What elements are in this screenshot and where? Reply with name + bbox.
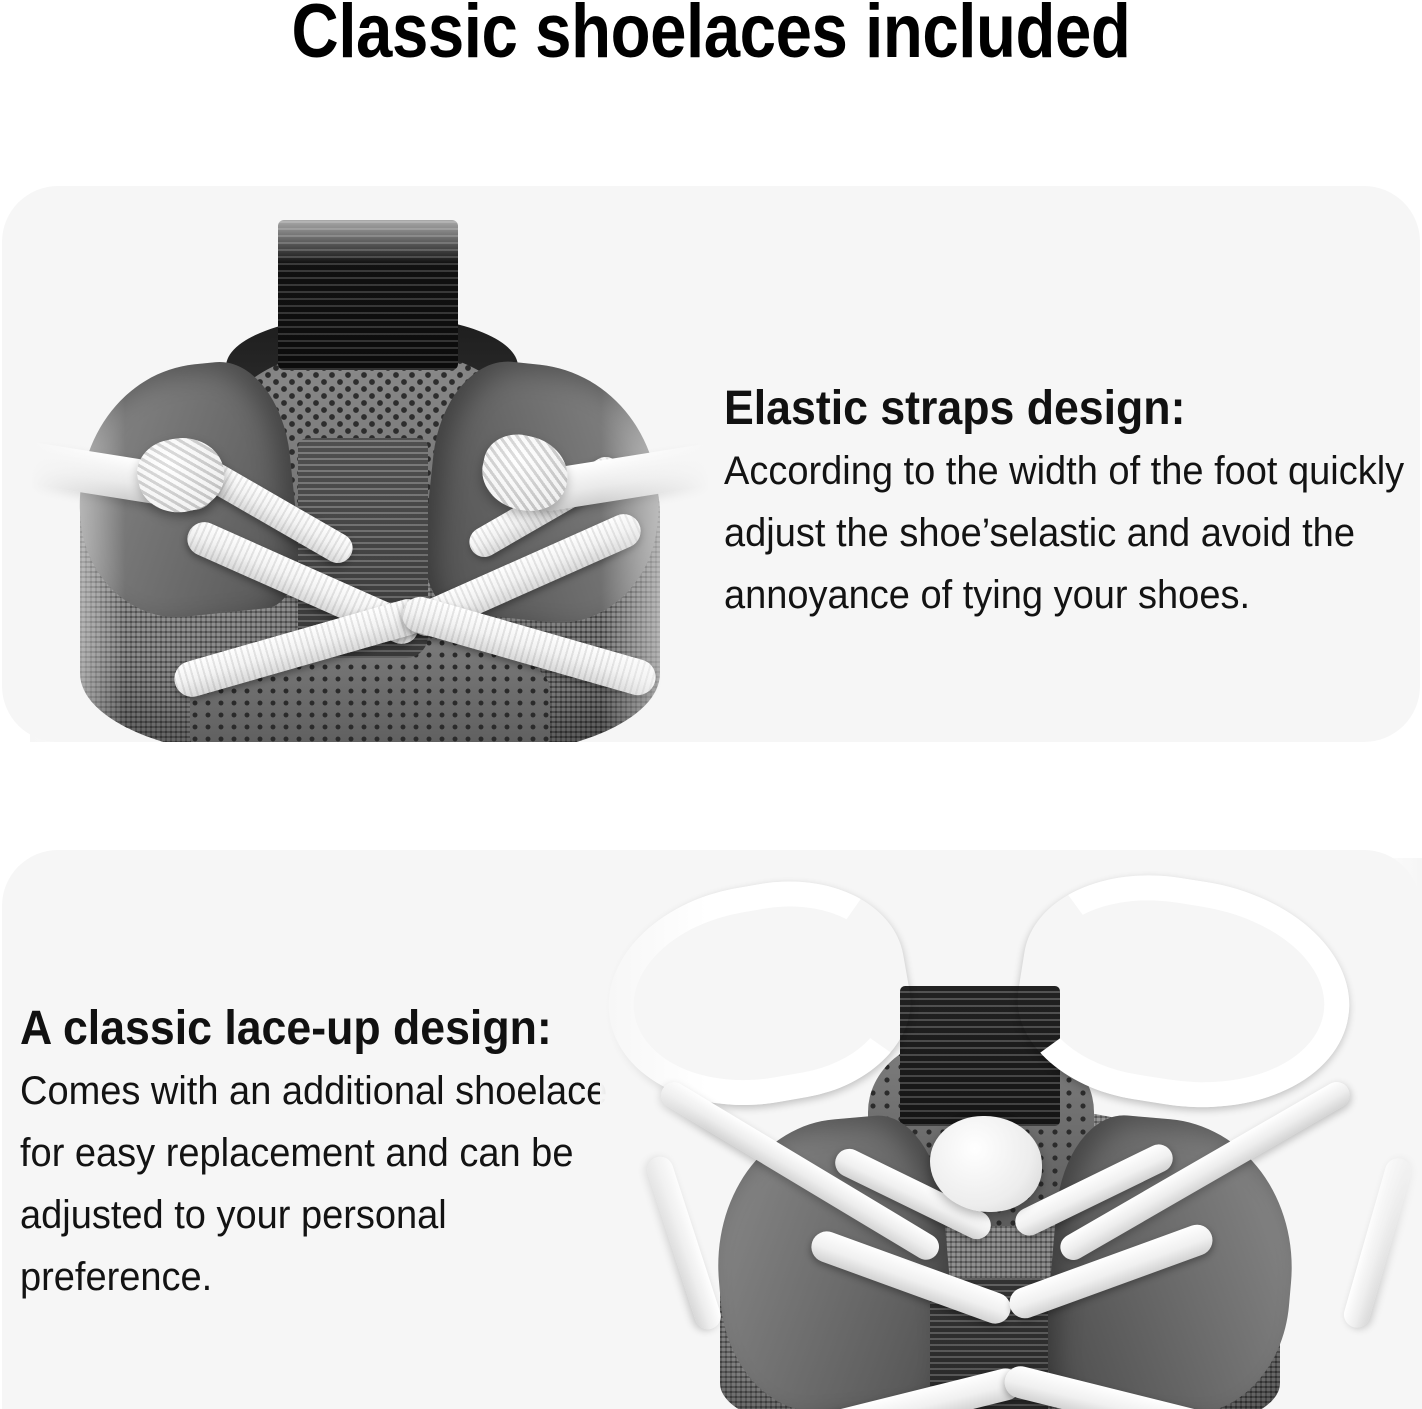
feature-body-elastic-straps: According to the width of the foot quick…	[724, 440, 1418, 626]
feature-heading-elastic-straps: Elastic straps design:	[724, 378, 1369, 440]
page-title: Classic shoelaces included	[100, 0, 1323, 70]
shoelace-tail-left	[644, 1153, 724, 1332]
feature-body-classic-lace-up: Comes with an additional shoelace for ea…	[20, 1060, 638, 1308]
product-photo-classic-lace-up	[600, 858, 1422, 1409]
feature-heading-classic-lace-up: A classic lace-up design:	[20, 998, 597, 1060]
shoelace-tail-right	[1341, 1155, 1414, 1330]
feature-text-classic-lace-up: A classic lace-up design: Comes with an …	[20, 998, 640, 1308]
product-photo-elastic-straps	[30, 198, 710, 742]
shoe-pull-tab-icon	[278, 220, 458, 370]
feature-text-elastic-straps: Elastic straps design: According to the …	[724, 378, 1418, 626]
